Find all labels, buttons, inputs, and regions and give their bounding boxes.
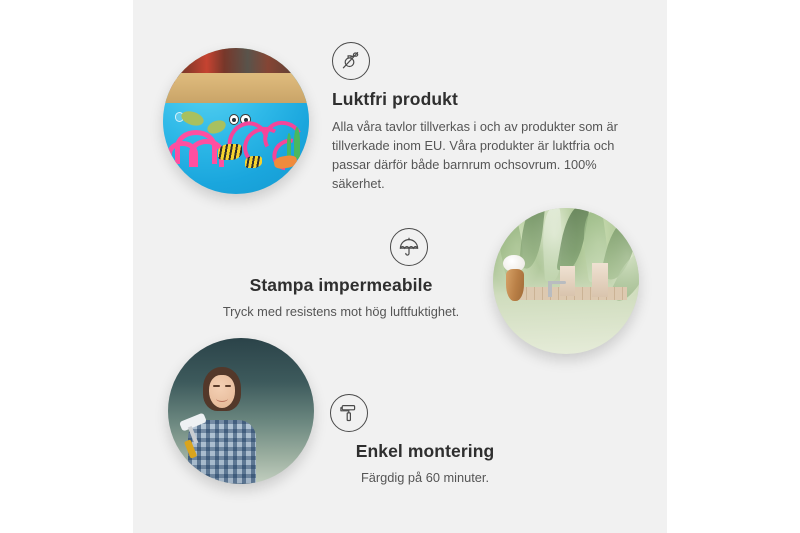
feature-waterproof: Stampa impermeabile Tryck med resistens …: [196, 228, 486, 321]
woman-eye: [213, 385, 219, 387]
feature-body: Tryck med resistens mot hög luftfuktighe…: [196, 302, 486, 321]
vase: [506, 269, 524, 301]
feature-odorless: Luktfri produkt Alla våra tavlor tillver…: [332, 42, 620, 194]
feature-body: Färgdig på 60 minuter.: [300, 468, 550, 487]
woman-smile: [216, 395, 228, 402]
photo-bathroom: [493, 208, 639, 354]
icon-wrap: [196, 228, 486, 266]
fish-yellow: [245, 156, 263, 168]
towel: [592, 263, 608, 297]
umbrella-icon: [390, 228, 428, 266]
feature-body: Alla våra tavlor tillverkas i och av pro…: [332, 117, 620, 194]
photo-forest: [168, 338, 314, 484]
promo-graphic: Luktfri produkt Alla våra tavlor tillver…: [0, 0, 800, 533]
photo-ocean: [163, 48, 309, 194]
no-odor-perfume-bottle-icon: [332, 42, 370, 80]
paint-roller-icon: [330, 394, 368, 432]
woman-face: [209, 375, 235, 409]
icon-wrap: [300, 394, 550, 432]
feature-title: Luktfri produkt: [332, 89, 620, 111]
woman-eye: [225, 385, 231, 387]
feature-title: Enkel montering: [300, 441, 550, 463]
woman-shirt: [188, 420, 255, 484]
feature-easy-mounting: Enkel montering Färgdig på 60 minuter.: [300, 394, 550, 487]
coral: [167, 141, 197, 166]
faucet-spout: [548, 281, 566, 284]
ocean-foreground-strip: [163, 48, 309, 73]
feature-title: Stampa impermeabile: [196, 275, 486, 297]
